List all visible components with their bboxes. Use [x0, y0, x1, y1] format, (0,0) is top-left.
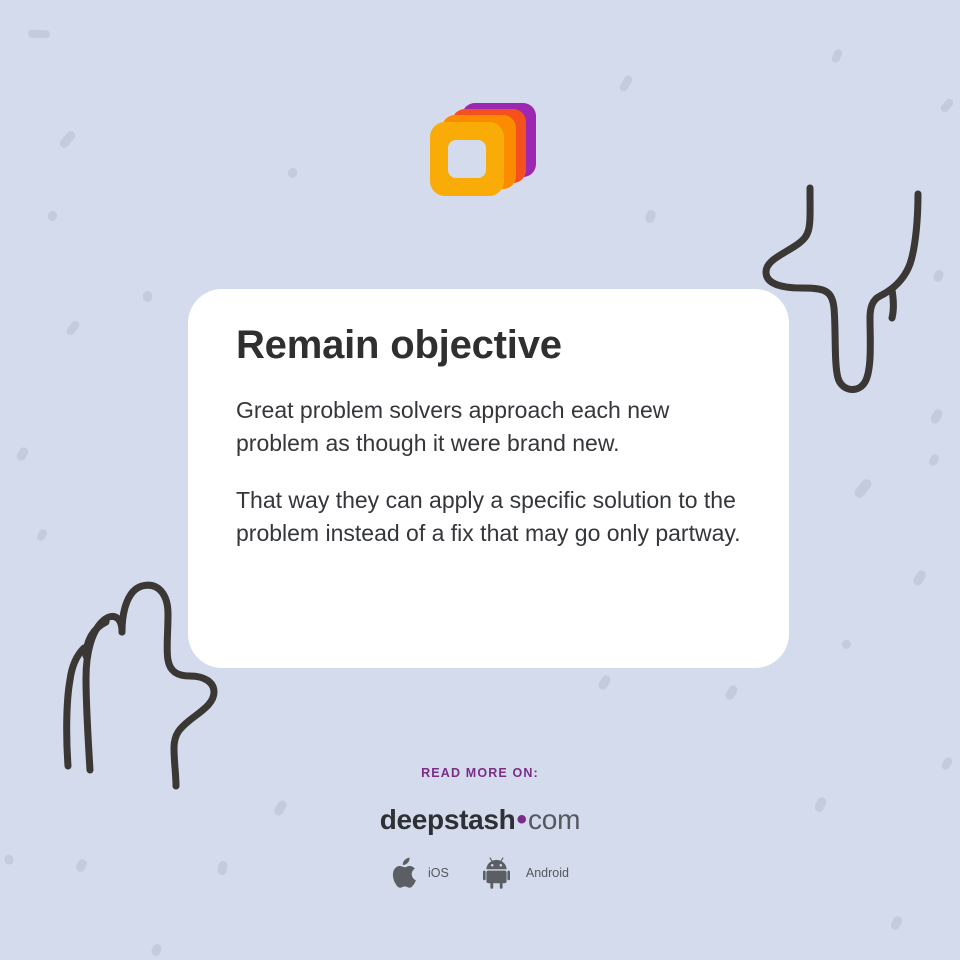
confetti-speck	[288, 168, 297, 178]
confetti-speck	[36, 528, 49, 542]
confetti-speck	[932, 269, 945, 284]
store-label-android: Android	[526, 866, 569, 880]
deepstash-wordmark[interactable]: deepstash•com	[0, 805, 960, 835]
confetti-speck	[830, 48, 843, 64]
card-paragraph-2: That way they can apply a specific solut…	[236, 484, 745, 550]
card-paragraph-1: Great problem solvers approach each new …	[236, 394, 745, 460]
store-badges: iOS	[0, 857, 960, 889]
deepstash-logo	[424, 100, 524, 200]
apple-icon	[391, 857, 419, 889]
footer: READ MORE ON: deepstash•com iOS	[0, 766, 960, 889]
android-icon	[483, 857, 517, 889]
store-label-ios: iOS	[428, 866, 449, 880]
confetti-speck	[618, 74, 633, 93]
confetti-speck	[912, 569, 928, 587]
confetti-speck	[28, 30, 50, 39]
card-title: Remain objective	[236, 323, 745, 368]
confetti-speck	[842, 640, 851, 649]
confetti-speck	[58, 129, 77, 149]
wordmark-brand: deepstash	[380, 804, 516, 835]
confetti-speck	[939, 97, 955, 114]
confetti-speck	[928, 453, 941, 467]
idea-card: Remain objective Great problem solvers a…	[188, 289, 789, 668]
wordmark-dot: •	[515, 803, 528, 836]
idea-card-canvas: Remain objective Great problem solvers a…	[0, 0, 960, 960]
confetti-speck	[15, 446, 30, 463]
store-badge-ios[interactable]: iOS	[391, 857, 449, 889]
confetti-speck	[143, 291, 152, 302]
confetti-speck	[47, 210, 58, 222]
wordmark-tld: com	[528, 804, 580, 835]
confetti-speck	[929, 408, 944, 425]
confetti-speck	[597, 674, 612, 691]
logo-inner-cutout	[448, 140, 486, 178]
confetti-speck	[65, 319, 81, 337]
confetti-speck	[150, 943, 163, 957]
confetti-speck	[889, 915, 904, 932]
confetti-speck	[724, 684, 739, 701]
store-badge-android[interactable]: Android	[483, 857, 569, 889]
read-more-label: READ MORE ON:	[0, 766, 960, 780]
confetti-speck	[644, 209, 657, 224]
confetti-speck	[853, 477, 874, 500]
